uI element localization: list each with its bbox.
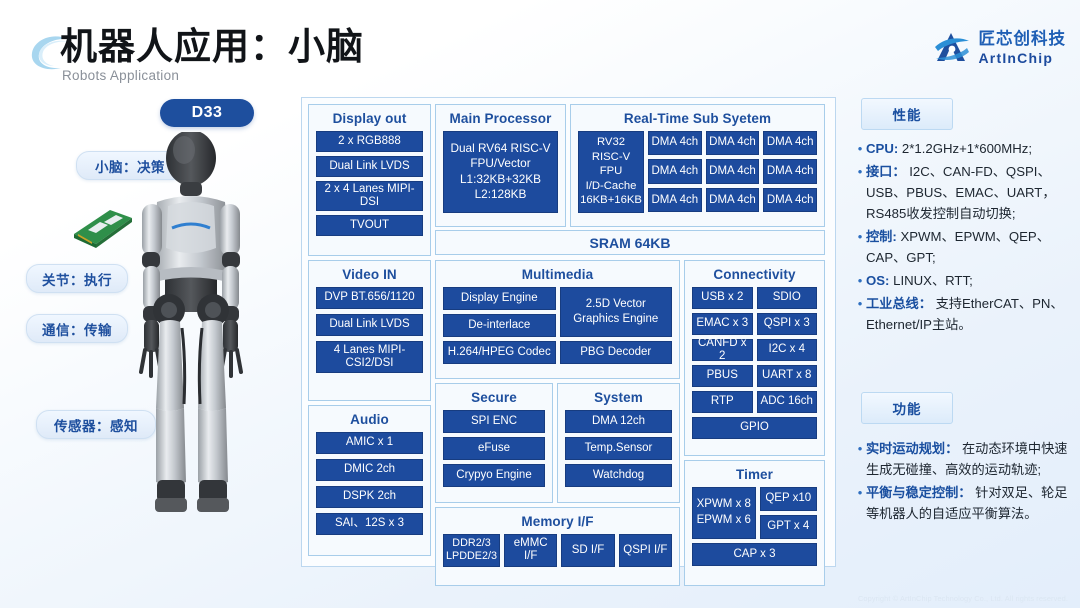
group-title-realtime-subsystem: Real-Time Sub Syetem: [571, 105, 824, 131]
block-dma-12ch: DMA 12ch: [565, 410, 672, 433]
page-title: 机器人应用：小脑: [60, 25, 364, 69]
block-mipi-dsi: 2 x 4 Lanes MIPI-DSI: [316, 181, 423, 211]
group-title-video-in: Video IN: [309, 261, 430, 287]
block-dma: DMA 4ch: [706, 159, 760, 184]
block-dvp-bt656: DVP BT.656/1120: [316, 287, 423, 309]
block-qep: QEP x10: [760, 487, 818, 511]
function-bullet-item: •实时运动规划： 在动态环境中快速生成无碰撞、高效的运动轨迹;: [854, 438, 1076, 480]
block-dma: DMA 4ch: [763, 188, 817, 213]
block-uart: UART x 8: [757, 365, 818, 387]
block-dma: DMA 4ch: [648, 159, 702, 184]
group-title-secure: Secure: [436, 384, 552, 410]
group-title-memory-if: Memory I/F: [436, 508, 679, 534]
group-title-system: System: [558, 384, 679, 410]
block-qspi-if: QSPI I/F: [619, 534, 672, 567]
block-dma: DMA 4ch: [648, 131, 702, 156]
block-sram: SRAM 64KB: [435, 230, 825, 255]
performance-bullet-item-key: 控制:: [866, 229, 897, 244]
group-realtime-subsystem: Real-Time Sub Syetem RV32 RISC-V FPU I/D…: [570, 104, 825, 227]
function-bullet-item-key: 实时运动规划：: [866, 441, 958, 456]
group-display-out: Display out 2 x RGB888 Dual Link LVDS 2 …: [308, 104, 431, 256]
block-amic: AMIC x 1: [316, 432, 423, 454]
block-dma: DMA 4ch: [763, 159, 817, 184]
bullet-dot-icon: •: [854, 438, 866, 480]
group-connectivity: Connectivity USB x 2SDIO EMAC x 3QSPI x …: [684, 260, 825, 456]
group-memory-if: Memory I/F DDR2/3 LPDDE2/3 eMMC I/F SD I…: [435, 507, 680, 586]
block-cap: CAP x 3: [692, 543, 817, 566]
block-emac: EMAC x 3: [692, 313, 753, 335]
block-tvout: TVOUT: [316, 215, 423, 236]
bullet-dot-icon: •: [854, 482, 866, 524]
block-rtp: RTP: [692, 391, 753, 413]
block-crypto-engine: Crypyo Engine: [443, 464, 545, 487]
performance-bullet-item-text: 控制: XPWM、EPWM、QEP、CAP、GPT;: [866, 226, 1076, 268]
block-pbg-decoder: PBG Decoder: [560, 341, 673, 364]
block-rgb888: 2 x RGB888: [316, 131, 423, 152]
block-emmc-if: eMMC I/F: [504, 534, 557, 567]
group-secure: Secure SPI ENC eFuse Crypyo Engine: [435, 383, 553, 503]
performance-bullet-item-key: CPU:: [866, 141, 898, 156]
block-i2c: I2C x 4: [757, 339, 818, 361]
function-bullet-item-key: 平衡与稳定控制：: [866, 485, 972, 500]
performance-bullet-item-key: OS:: [866, 273, 889, 288]
bullet-dot-icon: •: [854, 293, 866, 335]
block-usb: USB x 2: [692, 287, 753, 309]
block-efuse: eFuse: [443, 437, 545, 460]
group-title-display-out: Display out: [309, 105, 430, 131]
block-dma: DMA 4ch: [763, 131, 817, 156]
block-rv32-core: RV32 RISC-V FPU I/D-Cache 16KB+16KB: [578, 131, 644, 213]
block-qspi: QSPI x 3: [757, 313, 818, 335]
performance-bullet-item-text: CPU: 2*1.2GHz+1*600MHz;: [866, 138, 1032, 159]
group-main-processor: Main Processor Dual RV64 RISC-V FPU/Vect…: [435, 104, 566, 227]
performance-bullet-item-key: 接口：: [866, 164, 906, 179]
performance-bullet-item-text: OS: LINUX、RTT;: [866, 270, 973, 291]
group-video-in: Video IN DVP BT.656/1120 Dual Link LVDS …: [308, 260, 431, 401]
copyright-notice: Copyright © ArtInChip Technology Co., Lt…: [858, 594, 1068, 603]
chip-badge-d33: D33: [160, 99, 254, 127]
group-title-connectivity: Connectivity: [685, 261, 824, 287]
block-sdio: SDIO: [757, 287, 818, 309]
group-system: System DMA 12ch Temp.Sensor Watchdog: [557, 383, 680, 503]
company-logo: 匠芯创科技 ArtInChip: [932, 30, 1067, 66]
block-dma: DMA 4ch: [706, 131, 760, 156]
block-dual-link-lvds-in: Dual Link LVDS: [316, 314, 423, 336]
group-multimedia: Multimedia Display Engine De-interlace H…: [435, 260, 680, 379]
block-temp-sensor: Temp.Sensor: [565, 437, 672, 460]
logo-text-cn: 匠芯创科技: [979, 31, 1067, 48]
function-bullet-list: •实时运动规划： 在动态环境中快速生成无碰撞、高效的运动轨迹;•平衡与稳定控制：…: [854, 438, 1076, 526]
section-tag-function: 功能: [861, 392, 953, 424]
group-title-main-processor: Main Processor: [436, 105, 565, 131]
block-mipi-csi2-dsi: 4 Lanes MIPI-CSI2/DSI: [316, 341, 423, 373]
performance-bullet-list: •CPU: 2*1.2GHz+1*600MHz;•接口： I2C、CAN-FD、…: [854, 138, 1076, 337]
bullet-dot-icon: •: [854, 138, 866, 159]
page-header: 机器人应用：小脑 Robots Application 匠芯创科技 ArtInC…: [0, 0, 1080, 92]
block-dmic: DMIC 2ch: [316, 459, 423, 481]
block-xpwm-epwm: XPWM x 8 EPWM x 6: [692, 487, 756, 539]
block-dual-link-lvds-out: Dual Link LVDS: [316, 156, 423, 177]
block-h264-codec: H.264/HPEG Codec: [443, 341, 556, 364]
performance-bullet-item: •工业总线： 支持EtherCAT、PN、Ethernet/IP主站。: [854, 293, 1076, 335]
artinchip-logo-icon: [932, 30, 972, 66]
block-ddr: DDR2/3 LPDDE2/3: [443, 534, 500, 567]
block-gpio: GPIO: [692, 417, 817, 439]
performance-bullet-item-key: 工业总线：: [866, 296, 932, 311]
function-bullet-item: •平衡与稳定控制： 针对双足、轮足等机器人的自适应平衡算法。: [854, 482, 1076, 524]
group-timer: Timer XPWM x 8 EPWM x 6 QEP x10 GPT x 4 …: [684, 460, 825, 586]
page-subtitle: Robots Application: [62, 68, 179, 83]
block-de-interlace: De-interlace: [443, 314, 556, 337]
block-canfd: CANFD x 2: [692, 339, 753, 361]
block-sai-i2s: SAI、12S x 3: [316, 513, 423, 535]
logo-text-en: ArtInChip: [979, 51, 1067, 65]
function-bullet-item-text: 平衡与稳定控制： 针对双足、轮足等机器人的自适应平衡算法。: [866, 482, 1076, 524]
block-dma: DMA 4ch: [706, 188, 760, 213]
block-watchdog: Watchdog: [565, 464, 672, 487]
performance-bullet-item: •CPU: 2*1.2GHz+1*600MHz;: [854, 138, 1076, 159]
group-audio: Audio AMIC x 1 DMIC 2ch DSPK 2ch SAI、12S…: [308, 405, 431, 556]
block-display-engine: Display Engine: [443, 287, 556, 310]
soc-block-diagram: Display out 2 x RGB888 Dual Link LVDS 2 …: [301, 97, 836, 567]
block-dspk: DSPK 2ch: [316, 486, 423, 508]
bullet-dot-icon: •: [854, 161, 866, 224]
block-rv64-core: Dual RV64 RISC-V FPU/Vector L1:32KB+32KB…: [443, 131, 558, 213]
block-2-5d-vector-graphics-engine: 2.5D Vector Graphics Engine: [560, 287, 673, 337]
bullet-dot-icon: •: [854, 226, 866, 268]
block-sd-if: SD I/F: [561, 534, 614, 567]
humanoid-robot-image: [108, 132, 274, 562]
group-title-audio: Audio: [309, 406, 430, 432]
block-pbus: PBUS: [692, 365, 753, 387]
function-bullet-item-text: 实时运动规划： 在动态环境中快速生成无碰撞、高效的运动轨迹;: [866, 438, 1076, 480]
performance-bullet-item: •OS: LINUX、RTT;: [854, 270, 1076, 291]
section-tag-performance: 性能: [861, 98, 953, 130]
performance-bullet-item: •接口： I2C、CAN-FD、QSPI、USB、PBUS、EMAC、UART，…: [854, 161, 1076, 224]
group-title-timer: Timer: [685, 461, 824, 487]
group-title-multimedia: Multimedia: [436, 261, 679, 287]
block-gpt: GPT x 4: [760, 515, 818, 539]
block-spi-enc: SPI ENC: [443, 410, 545, 433]
bullet-dot-icon: •: [854, 270, 866, 291]
performance-bullet-item-text: 工业总线： 支持EtherCAT、PN、Ethernet/IP主站。: [866, 293, 1076, 335]
block-dma: DMA 4ch: [648, 188, 702, 213]
block-adc: ADC 16ch: [757, 391, 818, 413]
performance-bullet-item-text: 接口： I2C、CAN-FD、QSPI、USB、PBUS、EMAC、UART，R…: [866, 161, 1076, 224]
performance-bullet-item: •控制: XPWM、EPWM、QEP、CAP、GPT;: [854, 226, 1076, 268]
